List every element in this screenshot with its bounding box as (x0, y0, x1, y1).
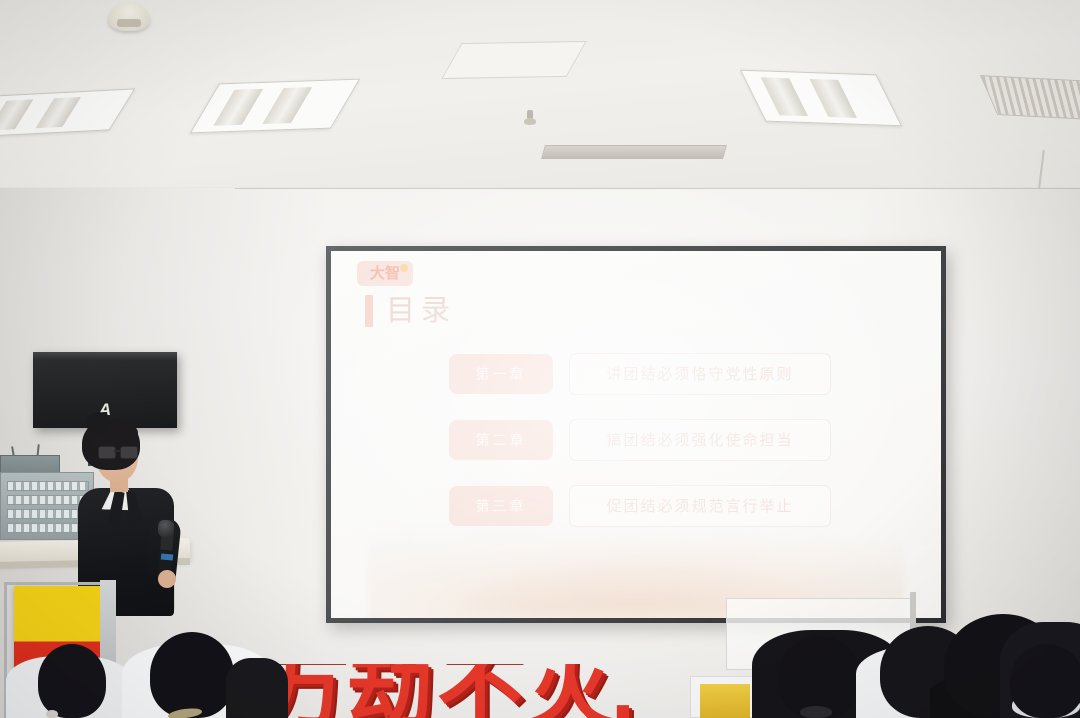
title-accent-bar (365, 295, 373, 327)
slide-title-row: 目录 (365, 295, 456, 327)
slide-logo-text: 大智 (370, 266, 400, 281)
light-tube (761, 77, 808, 116)
chapter-label: 第三章 (476, 499, 527, 513)
photo-scene: 大智 目录 第一章 讲团结必须恪守党性原则 第二 (0, 0, 1080, 718)
glasses-bridge (114, 450, 120, 452)
blank-ceiling-panel (441, 41, 586, 79)
audience-member (226, 658, 288, 718)
red-sign-char: 不 (437, 664, 523, 718)
red-banner-sign: 万 劫 不 灭 . (255, 664, 685, 718)
red-sign-char: . (611, 664, 635, 718)
hair-clip-icon (46, 710, 58, 718)
chapter-badge: 第二章 (449, 420, 553, 460)
light-tube (0, 99, 33, 130)
chapter-title-text: 搞团结必须强化使命担当 (606, 433, 793, 448)
red-sign-char: 灭 (527, 664, 613, 718)
microphone-head (157, 519, 174, 537)
slide-title: 目录 (386, 297, 456, 326)
hair-clip-icon (800, 706, 832, 718)
slide-toc-list: 第一章 讲团结必须恪守党性原则 第二章 搞团结必须强化使命担当 (449, 353, 831, 527)
smoke-detector-icon (108, 3, 150, 31)
chapter-badge: 第一章 (449, 354, 553, 394)
linear-vent (541, 145, 727, 159)
microphone-band (161, 553, 173, 560)
presenter-hair-bun (86, 412, 112, 434)
chapter-label: 第一章 (476, 367, 527, 381)
sign-yellow-block (700, 684, 750, 718)
presenter-hand (158, 570, 176, 588)
light-tube (262, 87, 312, 124)
slide-content: 大智 目录 第一章 讲团结必须恪守党性原则 第二 (331, 251, 941, 618)
light-tube (35, 97, 81, 128)
chapter-title-text: 讲团结必须恪守党性原则 (606, 367, 793, 382)
ceiling (0, 0, 1080, 196)
glasses-lens (98, 446, 116, 459)
speaker-top-edge (33, 352, 177, 360)
toc-item: 第二章 搞团结必须强化使命担当 (449, 419, 831, 461)
toc-item: 第三章 促团结必须规范言行举止 (449, 485, 831, 527)
logo-dot-icon (400, 264, 408, 272)
slide-logo: 大智 (357, 261, 413, 286)
chapter-title-panel: 讲团结必须恪守党性原则 (569, 353, 831, 395)
glasses-lens (120, 446, 138, 459)
ceiling-light-panel (740, 70, 902, 127)
chapter-title-text: 促团结必须规范言行举止 (606, 499, 793, 514)
chapter-title-panel: 搞团结必须强化使命担当 (569, 419, 831, 461)
audience-head (38, 644, 106, 718)
red-sign-char: 劫 (347, 664, 433, 718)
sprinkler-head-icon (524, 110, 536, 126)
audience-head (150, 632, 234, 718)
chapter-badge: 第三章 (449, 486, 553, 526)
chapter-label: 第二章 (476, 433, 527, 447)
glasses-icon (98, 446, 140, 457)
light-tube (810, 79, 857, 118)
light-tube (213, 89, 263, 126)
projection-screen: 大智 目录 第一章 讲团结必须恪守党性原则 第二 (326, 246, 946, 623)
audience-head (1010, 644, 1080, 718)
toc-item: 第一章 讲团结必须恪守党性原则 (449, 353, 831, 395)
chapter-title-panel: 促团结必须规范言行举止 (569, 485, 831, 527)
